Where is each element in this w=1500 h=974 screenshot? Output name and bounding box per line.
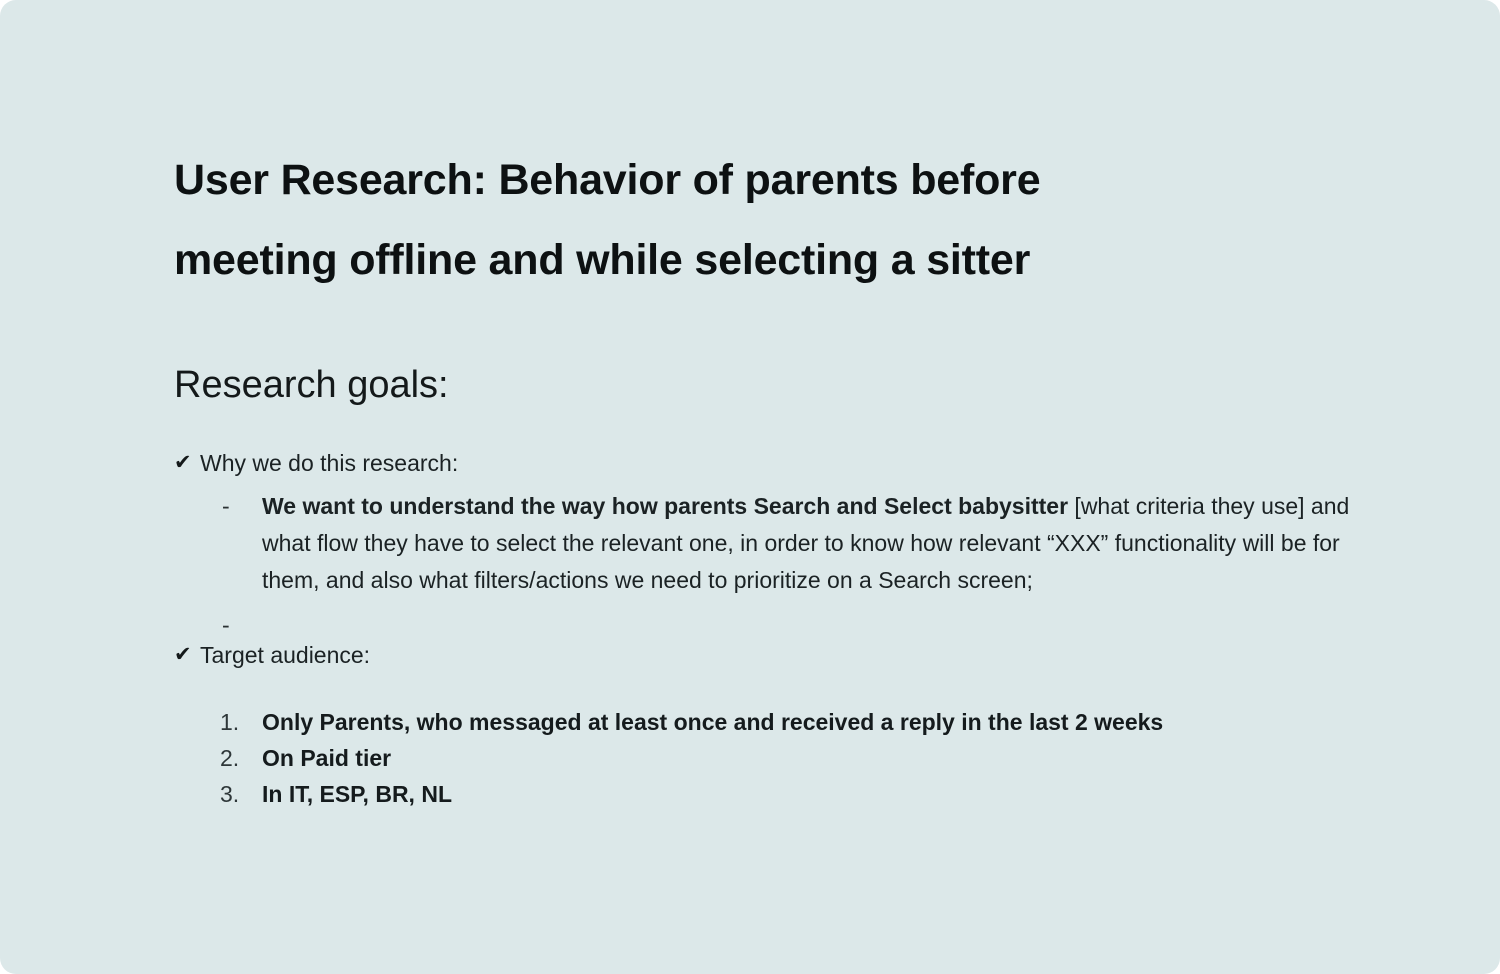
sub-bullet-empty: - [174, 607, 1354, 640]
list-item: 3. In IT, ESP, BR, NL [174, 776, 1354, 812]
bullet-why-we-do-this-research: ✔ Why we do this research: [174, 448, 1354, 478]
slide-canvas: User Research: Behavior of parents befor… [0, 0, 1500, 974]
bullet-label-target-audience: Target audience: [200, 642, 370, 668]
slide-content: User Research: Behavior of parents befor… [174, 140, 1354, 812]
bullet-label-why: Why we do this research: [200, 450, 458, 476]
sub-bullet-research-rationale: - We want to understand the way how pare… [174, 488, 1354, 599]
list-item-label: In IT, ESP, BR, NL [262, 781, 452, 807]
list-item: 1. Only Parents, who messaged at least o… [174, 704, 1354, 740]
section-heading-research-goals: Research goals: [174, 300, 1354, 408]
dash-icon: - [222, 488, 230, 525]
list-item: 2. On Paid tier [174, 740, 1354, 776]
check-icon: ✔ [174, 640, 192, 670]
bullet-target-audience: ✔ Target audience: [174, 640, 1354, 670]
dash-icon: - [222, 607, 230, 644]
check-icon: ✔ [174, 448, 192, 478]
list-item-label: On Paid tier [262, 745, 391, 771]
page-title: User Research: Behavior of parents befor… [174, 140, 1184, 300]
sub-bullet-lead-text: We want to understand the way how parent… [262, 493, 1068, 519]
list-item-number: 3. [220, 776, 239, 812]
target-audience-list: 1. Only Parents, who messaged at least o… [174, 704, 1354, 812]
list-item-label: Only Parents, who messaged at least once… [262, 709, 1163, 735]
list-item-number: 2. [220, 740, 239, 776]
list-item-number: 1. [220, 704, 239, 740]
